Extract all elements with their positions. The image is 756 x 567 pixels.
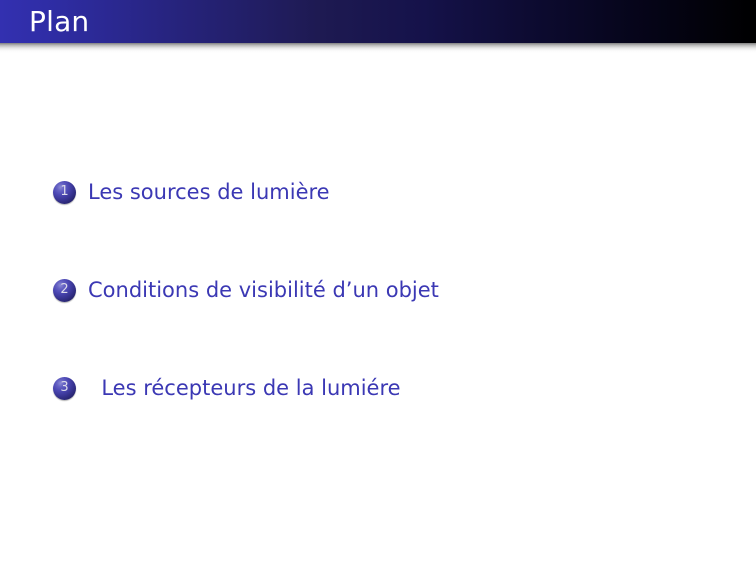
outline-number-label: 3 bbox=[60, 381, 68, 394]
outline-number-badge: 1 bbox=[53, 181, 76, 204]
table-of-contents: 1 Les sources de lumière 2 Conditions de… bbox=[0, 53, 756, 567]
outline-item-label: Les sources de lumière bbox=[88, 180, 330, 204]
page-title: Plan bbox=[29, 4, 89, 40]
outline-number-badge: 3 bbox=[53, 377, 76, 400]
outline-item-1[interactable]: 1 Les sources de lumière bbox=[53, 180, 330, 204]
outline-number-badge: 2 bbox=[53, 279, 76, 302]
outline-item-2[interactable]: 2 Conditions de visibilité d’un objet bbox=[53, 278, 439, 302]
header-shadow-divider bbox=[0, 43, 756, 53]
outline-item-label: Les récepteurs de la lumiére bbox=[88, 376, 401, 400]
slide-header-bar: Plan bbox=[0, 0, 756, 43]
outline-item-label: Conditions de visibilité d’un objet bbox=[88, 278, 439, 302]
outline-number-label: 1 bbox=[60, 185, 68, 198]
outline-item-3[interactable]: 3 Les récepteurs de la lumiére bbox=[53, 376, 401, 400]
outline-number-label: 2 bbox=[60, 283, 68, 296]
